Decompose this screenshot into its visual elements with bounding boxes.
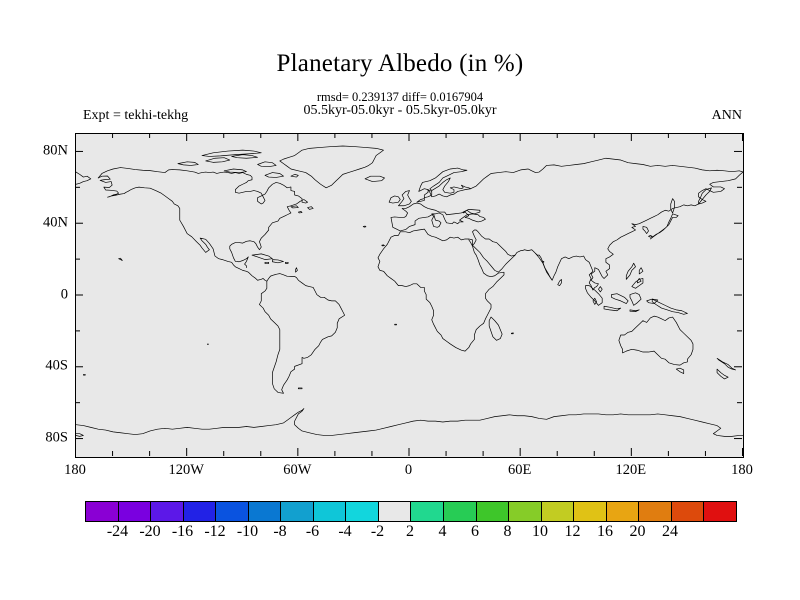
colorbar-tick-label: 12 bbox=[565, 523, 581, 541]
colorbar-band bbox=[704, 502, 736, 521]
colorbar-band bbox=[314, 502, 347, 521]
colorbar-tick-labels: -24-20-16-12-10-8-6-4-224681012162024 bbox=[85, 523, 737, 543]
x-axis-tick-label: 120W bbox=[168, 462, 203, 479]
colorbar-band bbox=[249, 502, 282, 521]
colorbar-tick-label: -4 bbox=[338, 523, 351, 541]
page-title: Planetary Albedo (in %) bbox=[0, 50, 800, 78]
colorbar-tick-label: -6 bbox=[306, 523, 319, 541]
colorbar-band bbox=[574, 502, 607, 521]
colorbar-band bbox=[672, 502, 705, 521]
y-axis-tick-label: 40N bbox=[43, 214, 68, 231]
colorbar-band bbox=[607, 502, 640, 521]
y-axis-tick-label: 0 bbox=[61, 286, 68, 303]
x-axis-labels: 180120W60W060E120E180 bbox=[75, 462, 742, 482]
colorbar-tick-label: 2 bbox=[406, 523, 414, 541]
colorbar-tick-label: 16 bbox=[597, 523, 613, 541]
world-coastlines-map bbox=[76, 134, 743, 457]
colorbar-band bbox=[444, 502, 477, 521]
colorbar-tick-label: 4 bbox=[439, 523, 447, 541]
colorbar-band bbox=[151, 502, 184, 521]
x-axis-tick-label: 180 bbox=[64, 462, 86, 479]
y-axis-labels: 80N40N040S80S bbox=[0, 133, 68, 456]
colorbar-band bbox=[411, 502, 444, 521]
colorbar-tick-label: -2 bbox=[371, 523, 384, 541]
colorbar-band bbox=[86, 502, 119, 521]
colorbar-tick-label: 6 bbox=[471, 523, 479, 541]
x-axis-tick-label: 60W bbox=[283, 462, 311, 479]
colorbar-bands bbox=[85, 501, 737, 522]
colorbar-tick-label: -16 bbox=[172, 523, 193, 541]
colorbar-band bbox=[477, 502, 510, 521]
x-axis-tick-label: 180 bbox=[731, 462, 753, 479]
colorbar-tick-label: 8 bbox=[504, 523, 512, 541]
colorbar-tick-label: 20 bbox=[630, 523, 646, 541]
colorbar-band bbox=[542, 502, 575, 521]
colorbar-band bbox=[379, 502, 412, 521]
colorbar-band bbox=[216, 502, 249, 521]
colorbar-band bbox=[639, 502, 672, 521]
y-axis-tick-label: 40S bbox=[45, 358, 68, 375]
colorbar bbox=[85, 501, 735, 520]
colorbar-band bbox=[281, 502, 314, 521]
colorbar-tick-label: -12 bbox=[204, 523, 225, 541]
colorbar-tick-label: -8 bbox=[273, 523, 286, 541]
map-plot-area bbox=[75, 133, 744, 458]
colorbar-band bbox=[184, 502, 217, 521]
y-axis-tick-label: 80S bbox=[45, 430, 68, 447]
colorbar-band bbox=[509, 502, 542, 521]
x-axis-tick-label: 120E bbox=[616, 462, 647, 479]
experiment-label: Expt = tekhi-tekhg bbox=[83, 108, 188, 124]
x-axis-tick-label: 0 bbox=[405, 462, 412, 479]
colorbar-tick-label: 10 bbox=[532, 523, 548, 541]
colorbar-tick-label: -20 bbox=[139, 523, 160, 541]
season-label: ANN bbox=[712, 108, 742, 124]
colorbar-tick-label: 24 bbox=[662, 523, 678, 541]
colorbar-band bbox=[346, 502, 379, 521]
colorbar-tick-label: -10 bbox=[237, 523, 258, 541]
y-axis-tick-label: 80N bbox=[43, 142, 68, 159]
x-axis-tick-label: 60E bbox=[508, 462, 531, 479]
colorbar-band bbox=[119, 502, 152, 521]
colorbar-tick-label: -24 bbox=[107, 523, 128, 541]
